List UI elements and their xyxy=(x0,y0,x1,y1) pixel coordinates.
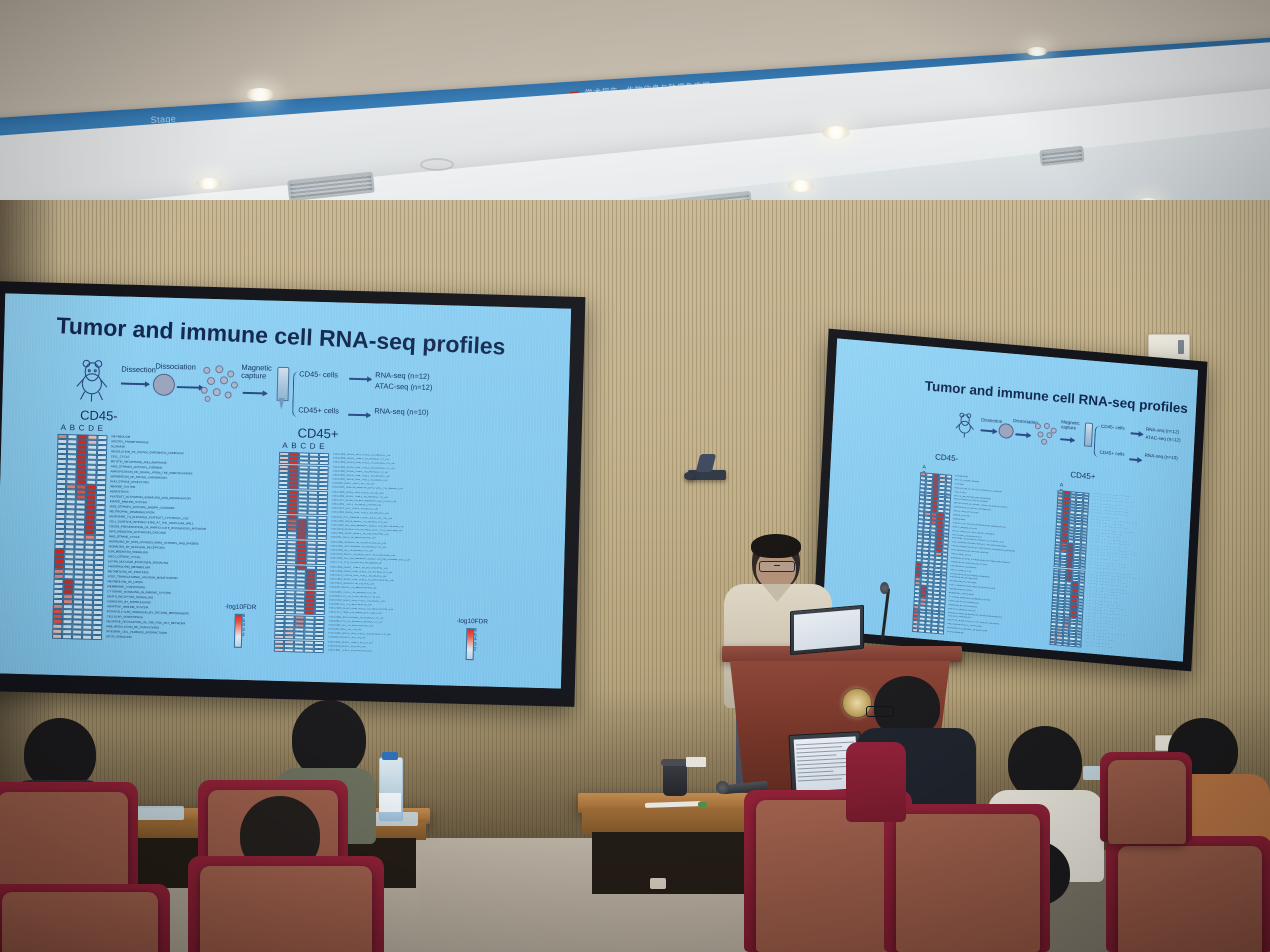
cup-sleeve-tag xyxy=(686,757,706,767)
output-rnaseq-12: RNA-seq (n=12) xyxy=(375,370,430,380)
seat-left-4 xyxy=(0,884,170,952)
podium-laptop[interactable] xyxy=(790,608,868,652)
heatmap-cell xyxy=(304,648,314,652)
slide-content-left: Tumor and immune cell RNA-seq profiles D… xyxy=(0,293,571,688)
seat-right-5 xyxy=(1100,752,1192,842)
downlight-2 xyxy=(196,178,222,189)
podium-mic-head xyxy=(880,582,889,594)
lecture-hall-photo: Stage 学术报告 · 生物信息与肿瘤免疫学 Tumor and immune xyxy=(0,0,1270,952)
coffee-cup[interactable] xyxy=(663,763,687,796)
downlight-4 xyxy=(788,180,814,192)
workflow-step-magnetic-capture: Magnetic capture xyxy=(241,364,275,381)
workflow-step-dissection: Dissection xyxy=(121,365,156,375)
camera-lens xyxy=(684,472,694,480)
laptop-lid xyxy=(790,605,864,655)
audience-head-5 xyxy=(1008,726,1082,800)
labels-neg-mirror: METABOLISMMITOTIC_PROMETAPHASEM_PHASERES… xyxy=(947,475,1060,644)
projection-screen-left-frame: Tumor and immune cell RNA-seq profiles D… xyxy=(0,281,585,707)
seat-right-5-back xyxy=(1108,760,1186,844)
heatmap-cell xyxy=(294,648,304,652)
projection-screen-right: Tumor and immune cell RNA-seq profiles D… xyxy=(822,338,1198,661)
seat-left-3 xyxy=(188,856,384,952)
seat-right-3 xyxy=(1106,836,1270,952)
heatmap-title-cd45-neg: CD45- xyxy=(80,407,118,423)
branch-label-cd45-pos: CD45+ cells xyxy=(298,405,339,415)
eyeglasses-bridge xyxy=(774,565,780,566)
heatmap-cell xyxy=(1075,644,1082,648)
eyeglasses-icon xyxy=(759,561,795,572)
heatmap-cell xyxy=(937,630,944,634)
ceiling-ring-detail xyxy=(420,158,454,171)
heatmap-pathway-labels-pos: GSE22886_NAIVE_CD4_TCELL_VS_NKCELL_UPGSE… xyxy=(328,453,513,658)
heatmap-cell xyxy=(284,648,294,652)
seat-right-4 xyxy=(846,742,906,822)
workflow-step-magnetic-mirror: Magnetic capture xyxy=(1061,420,1083,431)
column-tip-icon xyxy=(278,398,284,410)
downlight-9 xyxy=(1026,47,1048,56)
mouse-illustration xyxy=(74,357,109,402)
output-atacseq-12: ATAC-seq (n=12) xyxy=(375,381,433,392)
audience-head-2 xyxy=(292,700,366,778)
labels-pos-mirror: GSE22886_NAIVE_CD4_TCELL_VS_NKCELL_UPGSE… xyxy=(1084,493,1198,657)
heatmap-col-headers-pos: A B C D E xyxy=(282,441,325,451)
water-bottle-cap xyxy=(382,752,398,760)
heatmap-cell xyxy=(72,634,82,639)
magnetic-column-icon xyxy=(277,367,290,401)
laptop-screen xyxy=(794,609,860,651)
desk-outlet[interactable] xyxy=(650,878,666,889)
panel-switch-icon xyxy=(1178,340,1184,354)
handheld-mic-head xyxy=(716,781,729,794)
seat-right-3-back xyxy=(1118,846,1262,952)
heatmap-cells-pos xyxy=(274,452,329,653)
colorbar-ticks-pos: 65432 xyxy=(474,628,477,652)
wall-camera xyxy=(684,452,730,492)
heatmap-title-neg-mirror: CD45- xyxy=(935,452,959,463)
water-bottle-label xyxy=(379,793,401,812)
heatmap-cells-neg xyxy=(52,434,108,640)
seat-right-1-back xyxy=(756,800,902,952)
heatmap-title-cd45-pos: CD45+ xyxy=(297,425,338,441)
seat-right-4-edge xyxy=(846,742,906,822)
colorbar-label-neg: -log10FDR xyxy=(225,603,257,611)
magnetic-column-mirror xyxy=(1084,422,1093,447)
downlight-5 xyxy=(822,126,850,139)
seat-right-2-back xyxy=(896,814,1040,952)
heatmap-cell xyxy=(92,635,102,640)
colorbar-ticks-neg: 65432 xyxy=(242,614,245,638)
heatmap-cell xyxy=(314,649,324,653)
audience-4-glasses-icon xyxy=(866,706,894,717)
colorbar-label-pos: -log10FDR xyxy=(457,618,489,626)
pen-tip xyxy=(698,802,707,807)
seat-left-3-back xyxy=(200,866,372,952)
workflow-step-dissociation: Dissociation xyxy=(155,361,196,371)
mouse-illustration-mirror xyxy=(954,411,975,439)
heatmap-cell xyxy=(52,634,62,639)
water-bottle[interactable] xyxy=(379,757,403,822)
seat-right-2 xyxy=(884,804,1050,952)
heatmap-cell xyxy=(82,635,92,640)
slide-content-right: Tumor and immune cell RNA-seq profiles D… xyxy=(822,338,1198,661)
branch-label-cd45-neg: CD45- cells xyxy=(299,369,338,379)
colorbar-tick: 2 xyxy=(474,647,477,652)
seat-left-4-back xyxy=(2,892,158,952)
heatmap-cell xyxy=(274,648,284,652)
projection-screen-left: Tumor and immune cell RNA-seq profiles D… xyxy=(0,293,571,688)
cells-cluster-mirror xyxy=(1032,422,1057,446)
projection-screen-right-frame: Tumor and immune cell RNA-seq profiles D… xyxy=(812,329,1207,672)
dissociated-cells-cluster xyxy=(198,365,239,402)
speaker-hair xyxy=(751,534,801,558)
downlight-1 xyxy=(245,88,275,101)
coffee-cup-lid xyxy=(661,759,689,766)
colorbar-tick: 2 xyxy=(242,633,245,638)
heatmap-col-headers-neg: A B C D E xyxy=(61,423,104,433)
output-rnaseq-10: RNA-seq (n=10) xyxy=(374,406,429,416)
heatmap-pathway-labels-neg: METABOLISMMITOTIC_PROMETAPHASEM_PHASERES… xyxy=(106,435,271,644)
heatmap-cell xyxy=(62,634,72,639)
